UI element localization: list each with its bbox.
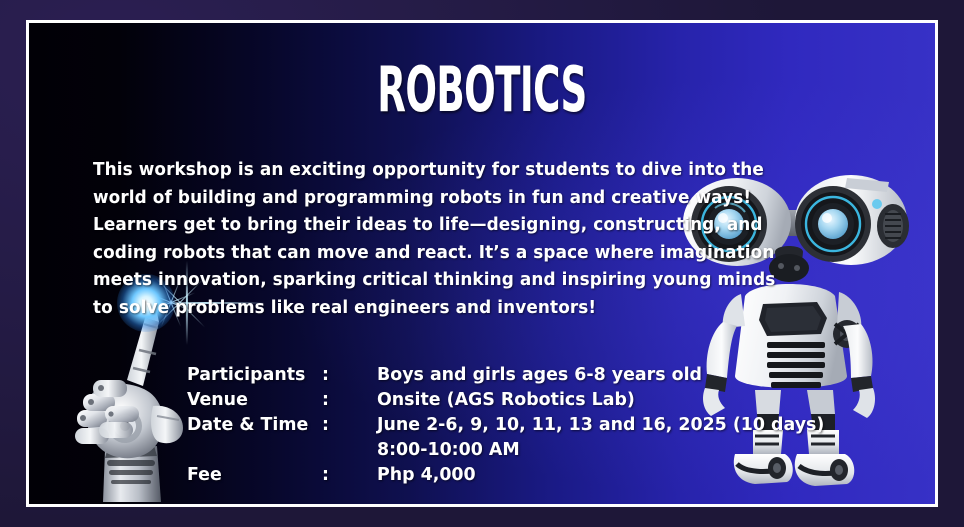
description-line: world of building and programming robots… xyxy=(93,185,704,213)
detail-row-time: 8:00-10:00 AM xyxy=(187,440,824,465)
detail-label: Venue xyxy=(187,390,322,415)
detail-value: June 2-6, 9, 10, 11, 13 and 16, 2025 (10… xyxy=(377,415,824,440)
detail-colon: : xyxy=(322,390,377,415)
detail-colon: : xyxy=(322,365,377,390)
robotic-hand-image xyxy=(53,294,203,504)
detail-row-participants: Participants : Boys and girls ages 6-8 y… xyxy=(187,365,824,390)
detail-label: Participants xyxy=(187,365,322,390)
description-line: coding robots that can move and react. I… xyxy=(93,240,704,268)
detail-label: Date & Time xyxy=(187,415,322,440)
description-line: meets innovation, sparking critical thin… xyxy=(93,267,704,295)
detail-row-date-time: Date & Time : June 2-6, 9, 10, 11, 13 an… xyxy=(187,415,824,440)
detail-value: Onsite (AGS Robotics Lab) xyxy=(377,390,824,415)
detail-colon: : xyxy=(322,465,377,490)
detail-row-fee: Fee : Php 4,000 xyxy=(187,465,824,490)
description-line: Learners get to bring their ideas to lif… xyxy=(93,212,704,240)
details-section: Participants : Boys and girls ages 6-8 y… xyxy=(187,365,824,490)
detail-colon xyxy=(322,440,377,465)
detail-value: Php 4,000 xyxy=(377,465,824,490)
poster-panel: ROBOTICS This workshop is an exciting op… xyxy=(26,20,938,507)
detail-colon: : xyxy=(322,415,377,440)
page-title: ROBOTICS xyxy=(210,59,754,121)
detail-value: Boys and girls ages 6-8 years old xyxy=(377,365,824,390)
description-line: This workshop is an exciting opportunity… xyxy=(93,157,704,185)
detail-label: Fee xyxy=(187,465,322,490)
description-paragraph: This workshop is an exciting opportunity… xyxy=(93,157,704,322)
poster-root: ROBOTICS This workshop is an exciting op… xyxy=(0,0,964,527)
detail-row-venue: Venue : Onsite (AGS Robotics Lab) xyxy=(187,390,824,415)
description-line: to solve problems like real engineers an… xyxy=(93,295,704,323)
detail-label xyxy=(187,440,322,465)
detail-value: 8:00-10:00 AM xyxy=(377,440,824,465)
